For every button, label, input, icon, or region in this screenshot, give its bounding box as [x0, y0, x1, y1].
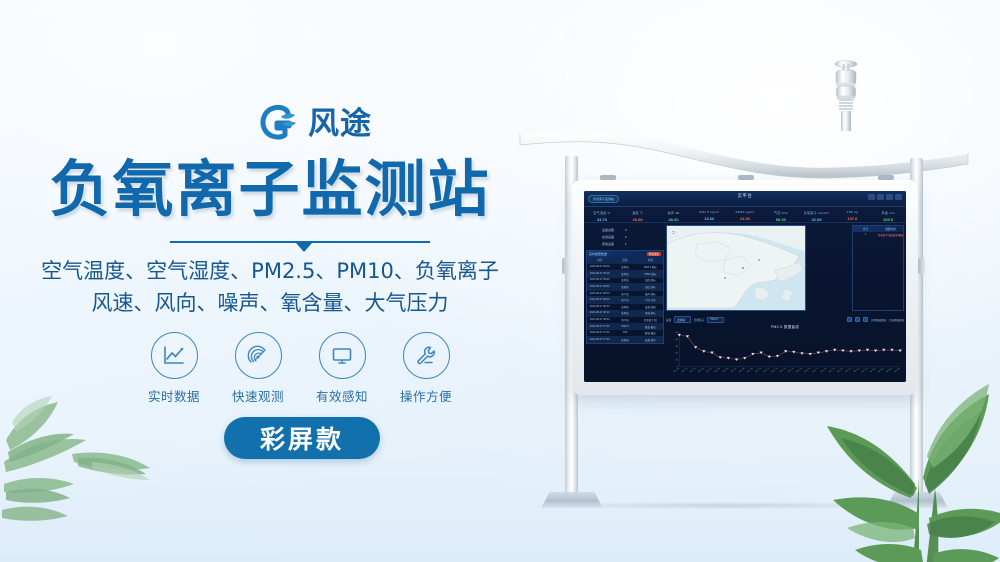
- table-cell: 监测站: [612, 304, 637, 310]
- feature-item-fast-observation[interactable]: 快速观测: [224, 332, 292, 405]
- stat-label: 离线设备: [602, 242, 614, 246]
- kpi-value: 41.70: [584, 217, 620, 222]
- table-cell: 2023-08-17 08:20: [587, 304, 612, 310]
- svg-text:40: 40: [676, 339, 678, 341]
- table-cell: 离子站: [612, 317, 637, 323]
- chart-title: PM2.5 数据曲线: [666, 324, 904, 329]
- svg-text:10: 10: [676, 359, 678, 361]
- kpi-name: 气压 hPa: [763, 210, 799, 215]
- title-divider: [170, 238, 430, 250]
- table-row[interactable]: 2023-08-17 08:30离子站气压 异常: [587, 296, 663, 303]
- kpi-name: PM10 ug/m³: [727, 210, 763, 214]
- table-cell: 2023-08-17 07:40: [587, 330, 612, 336]
- header-widgets[interactable]: [868, 194, 902, 200]
- table-cell: 数值 偏高: [638, 330, 663, 336]
- alarm-index: 1: [853, 232, 878, 238]
- kpi-name: 噪声 dB: [656, 210, 692, 215]
- table-cell: TSP: [612, 330, 637, 336]
- radar-scan-icon: [235, 332, 282, 379]
- housing-latch: [562, 258, 569, 274]
- kpi-value: 13.00: [691, 216, 727, 221]
- kpi-value: 26.80: [620, 217, 656, 222]
- table-cell: 风速 超标: [638, 311, 663, 317]
- svg-text:08-17 01: 08-17 01: [682, 368, 689, 373]
- table-cell: 湿度 超标: [638, 284, 663, 290]
- table-heading: 实时报警数据: [589, 252, 607, 256]
- table-column-headers: 时间 设备 内容: [587, 257, 663, 263]
- table-cell: 负氧离子 低: [638, 317, 663, 323]
- kpi-value: 107.0: [834, 216, 870, 221]
- timeseries-chart: 0102030405008-17 0008-17 0108-17 0208-17…: [668, 330, 903, 379]
- feature-icon-row: 实时数据 快速观测: [140, 332, 460, 405]
- kpi-name: 温度 ℃: [620, 210, 656, 215]
- kpi-card: 负氧离子 ion/cm³ 21.00: [799, 208, 835, 222]
- chart-fullscreen-icon[interactable]: [863, 317, 868, 322]
- stat-row: 设备总数 3: [602, 228, 664, 232]
- base-plate-right: [886, 492, 948, 508]
- lcd-screen[interactable]: 负氧离子监测站 云平台 空气湿度 % 41.70: [584, 191, 906, 382]
- feature-label: 实时数据: [140, 386, 208, 405]
- header-widget-icon: [895, 194, 902, 200]
- kpi-value: 99.30: [763, 217, 799, 222]
- kpi-name: 空气湿度 %: [584, 210, 620, 215]
- feature-item-effective-sensing[interactable]: 有效感知: [308, 332, 376, 405]
- chart-controls: 设备 监测站 监测因子 PM2.5 实时数据曲线 历史数据曲线: [666, 315, 904, 324]
- divider-triangle-icon: [296, 243, 312, 252]
- table-cell: 气压 异常: [638, 297, 663, 303]
- stat-label: 在线设备: [602, 235, 614, 239]
- svg-text:08-18 03: 08-18 03: [894, 368, 901, 373]
- stat-value: 2: [625, 235, 627, 239]
- table-cell: 2023-08-17 07:50: [587, 324, 612, 330]
- wave-canopy: [518, 120, 970, 180]
- table-cell: 温度 超标: [638, 278, 663, 284]
- wrench-icon: [403, 332, 450, 379]
- table-cell: 2023-08-17 09:10: [587, 271, 612, 277]
- table-cell: 2023-08-17 09:00: [587, 278, 612, 284]
- alarm-text: 负氧离子浓度低于阈值: [878, 232, 903, 238]
- stat-label: 设备总数: [602, 228, 614, 232]
- left-content: 风途 负氧离子监测站 空气温度、空气湿度、PM2.5、PM10、负氧离子 风速、…: [0, 0, 540, 562]
- table-row[interactable]: 2023-08-17 07:50PM2.5数值 偏高: [587, 323, 663, 330]
- feature-label: 操作方便: [392, 386, 460, 405]
- svg-text:50: 50: [676, 332, 678, 334]
- svg-text:08-17 20: 08-17 20: [837, 368, 844, 373]
- table-cell: 离子站: [612, 297, 637, 303]
- column-header: 设备: [612, 257, 637, 263]
- table-cell: 2023-08-17 08:40: [587, 291, 612, 297]
- svg-text:08-17 00: 08-17 00: [673, 368, 680, 373]
- table-row[interactable]: 2023-08-17 09:10监测站PM10 超标: [587, 270, 663, 277]
- table-row[interactable]: 2023-08-17 08:00离子站负氧离子 低: [587, 316, 663, 323]
- svg-text:08-17 12: 08-17 12: [772, 368, 779, 373]
- kpi-value: 48.20: [656, 217, 692, 222]
- kpi-value: 21.00: [727, 216, 763, 221]
- monitoring-station-kiosk: 负氧离子监测站 云平台 空气湿度 % 41.70: [500, 40, 1000, 540]
- cloud-platform-dashboard: 负氧离子监测站 云平台 空气湿度 % 41.70: [584, 191, 906, 382]
- kpi-card: 风速 m/s 100.0: [870, 208, 906, 222]
- kpi-card: 气压 hPa 99.30: [763, 208, 799, 222]
- table-cell: 监测站: [612, 337, 637, 343]
- alarm-side-panel: 序号 报警内容 1 负氧离子浓度低于阈值: [852, 225, 904, 311]
- table-cell: 离子站: [612, 291, 637, 297]
- svg-text:08-17 17: 08-17 17: [812, 368, 819, 373]
- cta-button[interactable]: 彩屏款: [224, 417, 380, 459]
- legend-item[interactable]: 实时数据曲线: [871, 318, 886, 322]
- svg-text:08-17 19: 08-17 19: [829, 368, 836, 373]
- table-cell: 监测站: [612, 278, 637, 284]
- svg-text:08-17 05: 08-17 05: [714, 368, 721, 373]
- feature-item-realtime-data[interactable]: 实时数据: [140, 332, 208, 405]
- header-widget-icon: [868, 194, 875, 200]
- svg-text:08-17 03: 08-17 03: [698, 368, 705, 373]
- column-header: 内容: [638, 257, 663, 263]
- table-cell: 2023-08-17 08:30: [587, 297, 612, 303]
- table-body: 2023-08-17 09:20监测站PM2.5 超标2023-08-17 09…: [587, 263, 663, 342]
- table-cell: PM2.5 超标: [638, 264, 663, 270]
- svg-text:08-17 08: 08-17 08: [739, 368, 746, 373]
- left-panel: 设备总数 3 在线设备 2 离线设备 1 实时报警数据: [586, 225, 664, 380]
- stat-value: 3: [625, 228, 627, 232]
- kpi-card: TSP ug 107.0: [834, 208, 870, 222]
- alarm-panel-row: 1 负氧离子浓度低于阈值: [853, 232, 903, 238]
- svg-text:08-17 16: 08-17 16: [804, 368, 811, 373]
- table-row[interactable]: 2023-08-17 07:30监测站设备 恢复: [587, 336, 663, 343]
- line-chart-icon: [151, 332, 198, 379]
- chart-view-toggle-icon[interactable]: [847, 317, 852, 322]
- device-stats: 设备总数 3 在线设备 2 离线设备 1: [586, 225, 664, 246]
- column-header: 时间: [587, 257, 612, 263]
- table-cell: 2023-08-17 08:10: [587, 311, 612, 317]
- table-cell: 监测站: [612, 311, 637, 317]
- svg-text:08-17 07: 08-17 07: [731, 368, 738, 373]
- view-more-button[interactable]: 查看更多: [647, 252, 661, 256]
- kpi-name: 负氧离子 ion/cm³: [799, 210, 835, 215]
- kpi-card: 空气湿度 % 41.70: [584, 208, 620, 222]
- control-label: 监测因子: [694, 318, 704, 322]
- svg-text:20: 20: [676, 353, 678, 355]
- factor-select[interactable]: PM2.5: [707, 317, 724, 323]
- subline-2: 风速、风向、噪声、氧含量、大气压力: [0, 288, 540, 320]
- table-row[interactable]: 2023-08-17 08:20监测站设备 离线: [587, 303, 663, 310]
- svg-text:08-17 13: 08-17 13: [780, 368, 787, 373]
- table-cell: 2023-08-17 09:20: [587, 264, 612, 270]
- table-cell: 2023-08-17 08:00: [587, 317, 612, 323]
- control-label: 设备: [666, 318, 671, 322]
- table-row[interactable]: 2023-08-17 07:40TSP数值 偏高: [587, 329, 663, 336]
- table-cell: 设备 恢复: [638, 337, 663, 343]
- housing-latch: [918, 258, 925, 274]
- table-row[interactable]: 2023-08-17 08:50监测站湿度 超标: [587, 283, 663, 290]
- table-row[interactable]: 2023-08-17 08:10监测站风速 超标: [587, 310, 663, 317]
- table-cell: PM10 超标: [638, 271, 663, 277]
- header-widget-icon: [877, 194, 884, 200]
- svg-text:08-17 02: 08-17 02: [690, 368, 697, 373]
- svg-text:08-17 06: 08-17 06: [722, 368, 729, 373]
- svg-text:30: 30: [676, 346, 678, 348]
- header-widget-icon: [886, 194, 893, 200]
- table-cell: 数值 偏高: [638, 324, 663, 330]
- kpi-card: PM10 ug/m³ 21.00: [727, 208, 763, 222]
- kpi-card: 噪声 dB 48.20: [656, 208, 692, 222]
- svg-text:08-17 11: 08-17 11: [763, 368, 770, 373]
- table-cell: 设备 离线: [638, 304, 663, 310]
- feature-label: 有效感知: [308, 386, 376, 405]
- table-row[interactable]: 2023-08-17 08:40离子站噪声 超标: [587, 290, 663, 297]
- svg-text:08-17 04: 08-17 04: [706, 368, 713, 373]
- kpi-card: 温度 ℃ 26.80: [620, 208, 656, 222]
- table-cell: 2023-08-17 08:50: [587, 284, 612, 290]
- table-cell: PM2.5: [612, 324, 637, 330]
- dashboard-title: 云平台: [584, 193, 906, 199]
- region-map[interactable]: [666, 225, 806, 311]
- monitor-screen-icon: [319, 332, 366, 379]
- table-row[interactable]: 2023-08-17 09:00监测站温度 超标: [587, 277, 663, 284]
- stat-row: 在线设备 2: [602, 235, 664, 239]
- table-row[interactable]: 2023-08-17 09:20监测站PM2.5 超标: [587, 263, 663, 270]
- table-cell: 监测站: [612, 284, 637, 290]
- feature-label: 快速观测: [224, 386, 292, 405]
- stat-row: 离线设备 1: [602, 242, 664, 246]
- promo-banner: 风途 负氧离子监测站 空气温度、空气湿度、PM2.5、PM10、负氧离子 风速、…: [0, 0, 1000, 562]
- svg-text:08-17 23: 08-17 23: [862, 368, 869, 373]
- table-cell: 噪声 超标: [638, 291, 663, 297]
- legend-item[interactable]: 历史数据曲线: [889, 318, 904, 322]
- svg-text:08-17 15: 08-17 15: [796, 368, 803, 373]
- device-select[interactable]: 监测站: [674, 316, 691, 323]
- svg-text:08-17 14: 08-17 14: [788, 368, 795, 373]
- brand-logo: 风途: [255, 101, 372, 147]
- table-cell: 监测站: [612, 271, 637, 277]
- kpi-name: TSP ug: [834, 210, 870, 214]
- svg-text:08-18 02: 08-18 02: [886, 368, 893, 373]
- svg-text:08-17 18: 08-17 18: [821, 368, 828, 373]
- kpi-name: PM2.5 ug/m³: [691, 210, 727, 214]
- subline-1: 空气温度、空气湿度、PM2.5、PM10、负氧离子: [0, 256, 540, 288]
- kpi-name: 风速 m/s: [870, 210, 906, 215]
- alarm-table: 实时报警数据 查看更多 时间 设备 内容 2023-08-17 09:20监测站…: [586, 250, 664, 343]
- display-housing: 负氧离子监测站 云平台 空气湿度 % 41.70: [572, 180, 918, 395]
- kpi-value: 100.0: [870, 217, 906, 222]
- svg-text:08-18 00: 08-18 00: [870, 368, 877, 373]
- kpi-card: PM2.5 ug/m³ 13.00: [691, 208, 727, 222]
- svg-text:08-17 10: 08-17 10: [755, 368, 762, 373]
- kpi-value: 21.00: [799, 217, 835, 222]
- page-title: 负氧离子监测站: [0, 158, 540, 222]
- brand-name: 风途: [308, 109, 372, 140]
- svg-text:0: 0: [677, 366, 678, 368]
- table-cell: 监测站: [612, 264, 637, 270]
- base-plate-left: [541, 492, 603, 508]
- svg-text:08-18 01: 08-18 01: [878, 368, 885, 373]
- feature-summary: 空气温度、空气湿度、PM2.5、PM10、负氧离子 风速、风向、噪声、氧含量、大…: [0, 256, 540, 319]
- chart-export-icon[interactable]: [855, 317, 860, 322]
- svg-text:08-17 21: 08-17 21: [845, 368, 852, 373]
- svg-text:08-17 22: 08-17 22: [853, 368, 860, 373]
- stat-value: 1: [625, 242, 627, 246]
- kpi-row: 空气湿度 % 41.70 温度 ℃ 26.80 噪声 dB 48.20 PM2.…: [584, 208, 906, 223]
- svg-text:08-17 09: 08-17 09: [747, 368, 754, 373]
- table-cell: 2023-08-17 07:30: [587, 337, 612, 343]
- leaf-g-logo-icon: [255, 101, 301, 147]
- feature-item-easy-operation[interactable]: 操作方便: [392, 332, 460, 405]
